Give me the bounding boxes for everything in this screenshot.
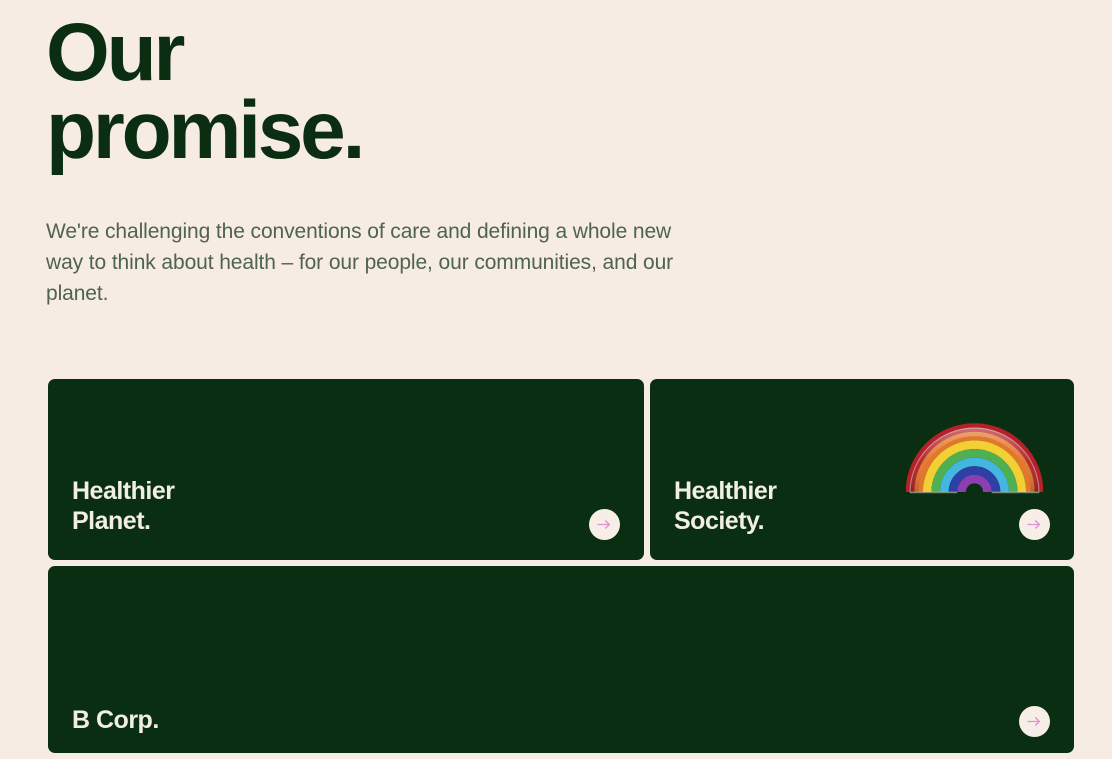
card-arrow-button[interactable] [1019,509,1050,540]
arrow-right-icon [597,517,612,532]
hero-subtitle: We're challenging the conventions of car… [46,216,706,309]
card-healthier-society[interactable]: Healthier Society. [650,379,1074,560]
card-healthier-planet[interactable]: Healthier Planet. [48,379,644,560]
hero-block: Our promise. [46,14,746,170]
card-title: Healthier Society. [674,476,776,536]
promise-card-grid: Healthier Planet. [48,379,1074,753]
promise-section: Our promise. We're challenging the conve… [0,0,1112,759]
card-b-corp[interactable]: B Corp. [48,566,1074,753]
arrow-right-icon [1027,714,1042,729]
page-title: Our promise. [46,14,746,170]
card-row-bottom: B Corp. [48,566,1074,753]
card-arrow-button[interactable] [589,509,620,540]
card-arrow-button[interactable] [1019,706,1050,737]
card-title: Healthier Planet. [72,476,174,536]
card-row-top: Healthier Planet. [48,379,1074,560]
card-title: B Corp. [72,705,159,735]
arrow-right-icon [1027,517,1042,532]
rainbow-illustration [906,423,1043,495]
